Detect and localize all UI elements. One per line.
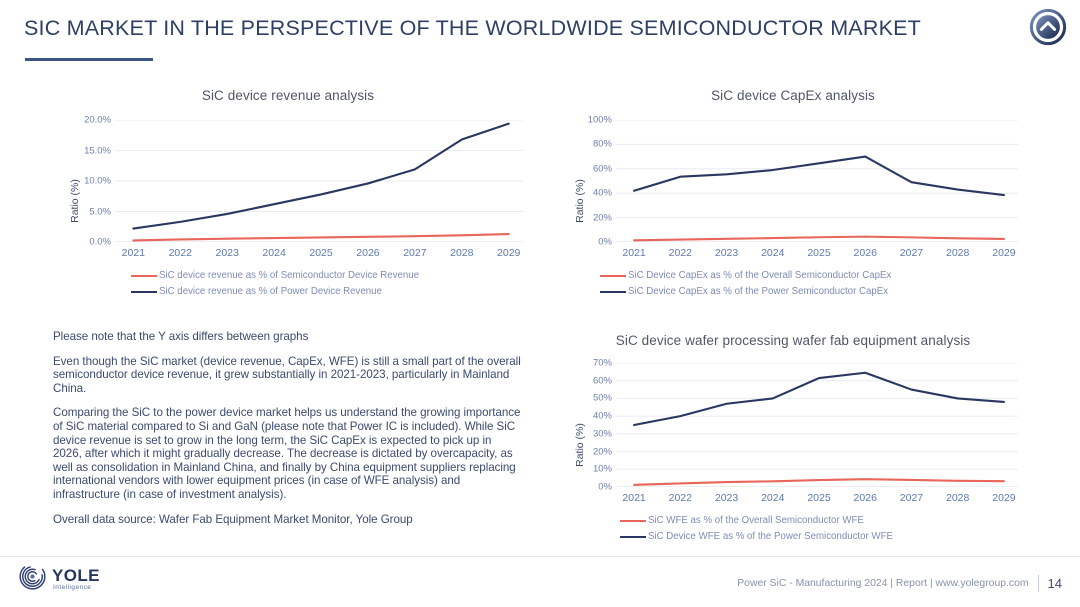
legend-label: SiC Device WFE as % of the Power Semicon… [648, 529, 893, 545]
y-tick-label: 60% [593, 163, 612, 174]
legend-color-swatch [131, 275, 157, 277]
legend-label: SiC device revenue as % of Power Device … [159, 284, 382, 300]
y-tick-label: 20.0% [84, 115, 111, 126]
y-tick-label: 10% [593, 464, 612, 475]
legend-color-swatch [620, 520, 646, 522]
y-tick-label: 30% [593, 428, 612, 439]
legend-label: SiC Device CapEx as % of the Power Semic… [628, 284, 888, 300]
y-tick-label: 80% [593, 139, 612, 150]
plot-area [616, 363, 1018, 487]
x-axis-ticks: 202120222023202420252026202720282029 [616, 491, 1018, 507]
y-tick-label: 0.0% [89, 237, 111, 248]
x-tick-label: 2024 [761, 492, 784, 504]
title-underline [25, 58, 153, 61]
notes-block: Please note that the Y axis differs betw… [53, 330, 523, 526]
note-paragraph: Overall data source: Wafer Fab Equipment… [53, 513, 523, 527]
x-tick-label: 2025 [309, 247, 332, 259]
x-tick-label: 2021 [122, 247, 145, 259]
plot-area [616, 120, 1018, 242]
logo-wordmark: YOLE [52, 567, 100, 584]
x-tick-label: 2026 [854, 492, 877, 504]
x-tick-label: 2029 [992, 247, 1015, 259]
y-tick-label: 70% [593, 358, 612, 369]
chevron-up-circle-icon[interactable] [1029, 8, 1067, 46]
chart-legend: SiC WFE as % of the Overall Semiconducto… [620, 513, 893, 545]
y-tick-label: 20% [593, 446, 612, 457]
chart-title: SiC device CapEx analysis [558, 88, 1028, 103]
x-tick-label: 2023 [216, 247, 239, 259]
x-tick-label: 2028 [946, 247, 969, 259]
footer-meta: Power SiC - Manufacturing 2024 | Report … [737, 575, 1062, 592]
y-tick-label: 10.0% [84, 176, 111, 187]
footer-text: Power SiC - Manufacturing 2024 | Report … [737, 578, 1028, 589]
chart-wfe: SiC device wafer processing wafer fab eq… [558, 333, 1028, 535]
x-tick-label: 2026 [854, 247, 877, 259]
x-tick-label: 2022 [669, 492, 692, 504]
legend-color-swatch [600, 291, 626, 293]
chart-title: SiC device revenue analysis [53, 88, 523, 103]
legend-item[interactable]: SiC device revenue as % of Power Device … [131, 284, 419, 300]
x-tick-label: 2029 [992, 492, 1015, 504]
page-number: 14 [1048, 576, 1062, 591]
y-axis-ticks: 70%60%50%40%30%20%10%0% [570, 363, 612, 487]
x-tick-label: 2027 [403, 247, 426, 259]
y-tick-label: 15.0% [84, 145, 111, 156]
y-tick-label: 5.0% [89, 206, 111, 217]
note-paragraph: Comparing the SiC to the power device ma… [53, 406, 523, 501]
x-tick-label: 2025 [807, 492, 830, 504]
legend-label: SiC device revenue as % of Semiconductor… [159, 268, 419, 284]
logo-subtitle: Intelligence [53, 585, 100, 591]
x-axis-ticks: 202120222023202420252026202720282029 [616, 246, 1018, 262]
x-tick-label: 2021 [622, 492, 645, 504]
legend-item[interactable]: SiC Device CapEx as % of the Power Semic… [600, 284, 891, 300]
x-tick-label: 2028 [946, 492, 969, 504]
x-tick-label: 2022 [669, 247, 692, 259]
y-tick-label: 0% [598, 237, 612, 248]
x-tick-label: 2026 [356, 247, 379, 259]
legend-label: SiC Device CapEx as % of the Overall Sem… [628, 268, 891, 284]
y-axis-ticks: 100%80%60%40%20%0% [570, 120, 612, 242]
x-tick-label: 2023 [715, 247, 738, 259]
series-line [133, 124, 508, 229]
note-paragraph: Please note that the Y axis differs betw… [53, 330, 523, 344]
y-axis-ticks: 20.0%15.0%10.0%5.0%0.0% [65, 120, 111, 242]
series-line [634, 237, 1004, 241]
legend-item[interactable]: SiC WFE as % of the Overall Semiconducto… [620, 513, 893, 529]
chart-capex: SiC device CapEx analysis Ratio (%) 100%… [558, 88, 1028, 292]
legend-color-swatch [600, 275, 626, 277]
x-tick-label: 2024 [262, 247, 285, 259]
x-tick-label: 2029 [497, 247, 520, 259]
legend-color-swatch [620, 536, 646, 538]
yole-logo: YOLE Intelligence [18, 562, 100, 596]
y-tick-label: 20% [593, 212, 612, 223]
x-tick-label: 2027 [900, 247, 923, 259]
chart-revenue: SiC device revenue analysis Ratio (%) 20… [53, 88, 523, 292]
page-title: SIC MARKET IN THE PERSPECTIVE OF THE WOR… [24, 16, 921, 41]
series-line [133, 234, 508, 240]
series-line [634, 479, 1004, 485]
x-tick-label: 2027 [900, 492, 923, 504]
footer-divider-line [0, 556, 1080, 557]
y-tick-label: 40% [593, 411, 612, 422]
chart-title: SiC device wafer processing wafer fab eq… [558, 333, 1028, 348]
legend-item[interactable]: SiC device revenue as % of Semiconductor… [131, 268, 419, 284]
series-line [634, 157, 1004, 195]
divider [1038, 575, 1039, 592]
legend-item[interactable]: SiC Device CapEx as % of the Overall Sem… [600, 268, 891, 284]
slide: SIC MARKET IN THE PERSPECTIVE OF THE WOR… [0, 0, 1080, 607]
x-tick-label: 2025 [807, 247, 830, 259]
chart-legend: SiC Device CapEx as % of the Overall Sem… [600, 268, 891, 300]
x-tick-label: 2022 [169, 247, 192, 259]
legend-label: SiC WFE as % of the Overall Semiconducto… [648, 513, 864, 529]
x-tick-label: 2024 [761, 247, 784, 259]
legend-item[interactable]: SiC Device WFE as % of the Power Semicon… [620, 529, 893, 545]
plot-area [115, 120, 523, 242]
y-tick-label: 50% [593, 393, 612, 404]
chart-legend: SiC device revenue as % of Semiconductor… [131, 268, 419, 300]
legend-color-swatch [131, 291, 157, 293]
note-paragraph: Even though the SiC market (device reven… [53, 355, 523, 396]
y-tick-label: 60% [593, 375, 612, 386]
y-tick-label: 100% [588, 115, 612, 126]
y-tick-label: 40% [593, 188, 612, 199]
x-tick-label: 2028 [450, 247, 473, 259]
x-axis-ticks: 202120222023202420252026202720282029 [115, 246, 523, 262]
yole-spiral-icon [18, 562, 47, 596]
x-tick-label: 2023 [715, 492, 738, 504]
x-tick-label: 2021 [622, 247, 645, 259]
y-tick-label: 0% [598, 482, 612, 493]
